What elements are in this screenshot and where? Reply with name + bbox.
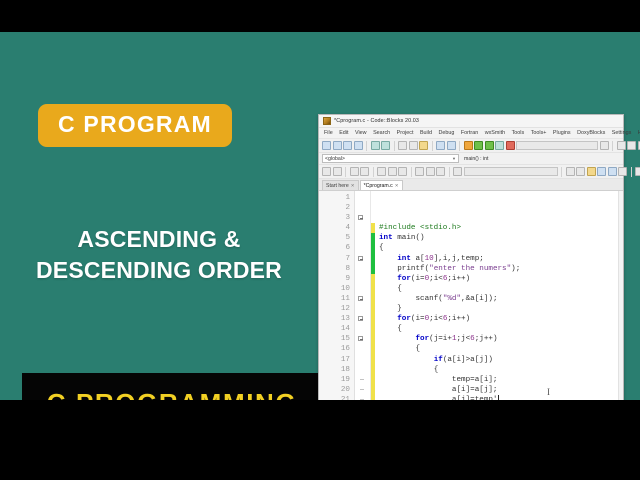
code-line[interactable]: temp=a[i]; — [379, 375, 618, 385]
code-line[interactable]: for(j=i+1;j<6;j++) — [379, 334, 618, 344]
scope-bar[interactable]: <global> ▼ main() : int — [319, 153, 623, 165]
code-line[interactable]: { — [379, 243, 618, 253]
toolbar-separator — [432, 141, 433, 151]
wrap-icon[interactable] — [377, 167, 386, 176]
save-all-icon[interactable] — [354, 141, 363, 150]
wand-icon[interactable] — [398, 167, 407, 176]
line-number: 3 — [319, 213, 350, 223]
undo-icon[interactable] — [371, 141, 380, 150]
lower-third-label: C PROGRAMMING — [47, 390, 297, 401]
debug-continue-icon[interactable] — [617, 141, 626, 150]
toolbar-separator — [394, 141, 395, 151]
close-icon[interactable]: ✕ — [351, 183, 355, 189]
i-beam-text-cursor: I — [547, 387, 550, 397]
unwrap-icon[interactable] — [388, 167, 397, 176]
toolbar-separator — [612, 141, 613, 151]
line-number: 17 — [319, 355, 350, 365]
code-line[interactable]: { — [379, 344, 618, 354]
editor-tab-bar[interactable]: Start here ✕ *Cprogram.c ✕ — [319, 179, 623, 191]
menu-build[interactable]: Build — [420, 130, 432, 136]
letterbox-bottom — [0, 400, 640, 480]
tab-start-here[interactable]: Start here ✕ — [322, 180, 359, 190]
goto-prev-icon[interactable] — [415, 167, 424, 176]
line-number: 7 — [319, 254, 350, 264]
fold-toggle-icon[interactable] — [358, 336, 363, 341]
forward-icon[interactable] — [576, 167, 585, 176]
window-title-bar: *Cprogram.c - Code::Blocks 20.03 — [319, 115, 623, 128]
tab-cprogram-c-label: *Cprogram.c — [364, 183, 393, 189]
menu-tools[interactable]: Tools — [512, 130, 525, 136]
code-line[interactable]: { — [379, 365, 618, 375]
code-folding-gutter[interactable] — [355, 191, 371, 400]
replace-icon[interactable] — [447, 141, 456, 150]
code-line[interactable]: { — [379, 324, 618, 334]
line-number: 6 — [319, 243, 350, 253]
window-title: *Cprogram.c - Code::Blocks 20.03 — [334, 118, 419, 124]
code-line[interactable]: for(i=0;i<6;i++) — [379, 314, 618, 324]
line-number: 15 — [319, 334, 350, 344]
build-icon[interactable] — [464, 141, 473, 150]
code-line[interactable]: } — [379, 304, 618, 314]
line-number: 1 — [319, 193, 350, 203]
menu-wxsmith[interactable]: wxSmith — [485, 130, 505, 136]
code-line[interactable]: int a[10],i,j,temp; — [379, 254, 618, 264]
line-number: 14 — [319, 324, 350, 334]
lower-third-banner: C PROGRAMMING — [22, 373, 322, 400]
debug-step-into-icon[interactable] — [627, 141, 636, 150]
line-number: 20 — [319, 385, 350, 395]
line-number: 19 — [319, 375, 350, 385]
menu-bar[interactable]: File Edit View Search Project Build Debu… — [319, 128, 623, 139]
headline-line-1: ASCENDING & — [77, 226, 240, 252]
symbol-combo-value: main() : int — [464, 156, 489, 162]
tab-cprogram-c[interactable]: *Cprogram.c ✕ — [360, 180, 403, 190]
line-number: 9 — [319, 274, 350, 284]
toolbar-separator — [411, 167, 412, 177]
line-number: 13 — [319, 314, 350, 324]
tab-start-here-label: Start here — [326, 183, 349, 189]
toolbar-separator — [449, 167, 450, 177]
goto-next-icon[interactable] — [436, 167, 445, 176]
uncomment-block-icon[interactable] — [360, 167, 369, 176]
line-number-gutter: 12345678910111213141516171819202122 — [319, 191, 355, 400]
c-program-badge-label: C PROGRAM — [58, 111, 212, 137]
line-number: 11 — [319, 294, 350, 304]
scope-combo[interactable]: <global> ▼ — [322, 154, 459, 163]
c-program-badge: C PROGRAM — [38, 104, 232, 147]
fold-end-marker — [360, 389, 364, 390]
new-file-icon[interactable] — [322, 141, 331, 150]
build-and-run-icon[interactable] — [485, 141, 494, 150]
find-icon[interactable] — [436, 141, 445, 150]
cut-icon[interactable] — [398, 141, 407, 150]
toolbar-separator — [373, 167, 374, 177]
paste-icon[interactable] — [419, 141, 428, 150]
menu-tools-plus[interactable]: Tools+ — [531, 130, 547, 136]
line-number: 12 — [319, 304, 350, 314]
menu-project[interactable]: Project — [397, 130, 414, 136]
rebuild-icon[interactable] — [495, 141, 504, 150]
code-line[interactable]: a[i]=a[j]; — [379, 385, 618, 395]
doxyblocks-run-icon[interactable] — [322, 167, 331, 176]
codeblocks-window: *Cprogram.c - Code::Blocks 20.03 File Ed… — [318, 114, 624, 400]
line-number: 16 — [319, 344, 350, 354]
thumbnail-stage: C PROGRAM ASCENDING & DESCENDING ORDER C… — [0, 32, 640, 400]
code-line[interactable]: for(i=0;i<6;i++) — [379, 274, 618, 284]
line-number: 21 — [319, 395, 350, 400]
menu-file[interactable]: File — [324, 130, 333, 136]
symbol-search-field[interactable] — [464, 167, 558, 176]
fold-toggle-icon[interactable] — [358, 256, 363, 261]
toolbar-separator — [459, 141, 460, 151]
fold-toggle-icon[interactable] — [358, 296, 363, 301]
run-icon[interactable] — [474, 141, 483, 150]
goto-bookmark-icon[interactable] — [426, 167, 435, 176]
code-line[interactable]: a[j]=temp' — [379, 395, 618, 400]
menu-fortran[interactable]: Fortran — [461, 130, 478, 136]
build-info-icon[interactable] — [600, 141, 609, 150]
abort-icon[interactable] — [506, 141, 515, 150]
line-number: 18 — [319, 365, 350, 375]
main-toolbar[interactable] — [319, 139, 623, 153]
toolbar-separator — [345, 167, 346, 177]
code-completion-icon[interactable] — [453, 167, 462, 176]
scope-combo-value: <global> — [325, 156, 345, 162]
fold-end-marker — [360, 379, 364, 380]
close-icon[interactable]: ✕ — [395, 183, 399, 189]
pointer-icon[interactable] — [635, 167, 640, 176]
vertical-scrollbar[interactable] — [618, 191, 623, 400]
line-number: 10 — [319, 284, 350, 294]
build-target-combo[interactable] — [516, 141, 598, 150]
line-number: 8 — [319, 264, 350, 274]
menu-edit[interactable]: Edit — [339, 130, 348, 136]
code-text-area[interactable]: #include <stdio.h>int main(){ int a[10],… — [375, 191, 618, 400]
code-line[interactable]: #include <stdio.h> — [379, 223, 618, 233]
letterbox-top — [0, 0, 640, 32]
code-editor[interactable]: 12345678910111213141516171819202122 #inc… — [319, 191, 623, 400]
toolbar-separator — [631, 167, 632, 177]
menu-debug[interactable]: Debug — [438, 130, 454, 136]
copy-icon[interactable] — [409, 141, 418, 150]
line-number: 5 — [319, 233, 350, 243]
headline: ASCENDING & DESCENDING ORDER — [0, 224, 318, 285]
highlight-icon[interactable] — [587, 167, 596, 176]
menu-doxyblocks[interactable]: DoxyBlocks — [577, 130, 605, 136]
menu-settings[interactable]: Settings — [612, 130, 631, 136]
redo-icon[interactable] — [381, 141, 390, 150]
back-icon[interactable] — [566, 167, 575, 176]
chevron-down-icon: ▼ — [452, 156, 456, 161]
code-line[interactable]: if(a[i]>a[j]) — [379, 355, 618, 365]
toolbar-separator — [561, 167, 562, 177]
menu-search[interactable]: Search — [373, 130, 390, 136]
code-line[interactable]: scanf("%d",&a[i]); — [379, 294, 618, 304]
add-breakpoint-icon[interactable] — [597, 167, 606, 176]
fold-toggle-icon[interactable] — [358, 316, 363, 321]
comment-block-icon[interactable] — [350, 167, 359, 176]
fold-end-marker — [360, 399, 364, 400]
toolbar-separator — [366, 141, 367, 151]
doxyblocks-extract-icon[interactable] — [333, 167, 342, 176]
open-file-icon[interactable] — [333, 141, 342, 150]
code-line[interactable]: int main() — [379, 233, 618, 243]
menu-view[interactable]: View — [355, 130, 367, 136]
secondary-toolbar[interactable] — [319, 165, 623, 179]
line-number: 4 — [319, 223, 350, 233]
code-line[interactable]: { — [379, 284, 618, 294]
misc-icon[interactable] — [618, 167, 627, 176]
screenshot-root: C PROGRAM ASCENDING & DESCENDING ORDER C… — [0, 0, 640, 480]
codeblocks-app-icon — [323, 117, 331, 125]
symbol-combo[interactable]: main() : int — [462, 154, 612, 163]
menu-plugins[interactable]: Plugins — [553, 130, 571, 136]
headline-line-2: DESCENDING ORDER — [0, 255, 318, 286]
line-number: 2 — [319, 203, 350, 213]
code-line[interactable]: printf("enter the numers"); — [379, 264, 618, 274]
fold-toggle-icon[interactable] — [358, 215, 363, 220]
thread-icon[interactable] — [608, 167, 617, 176]
save-icon[interactable] — [343, 141, 352, 150]
